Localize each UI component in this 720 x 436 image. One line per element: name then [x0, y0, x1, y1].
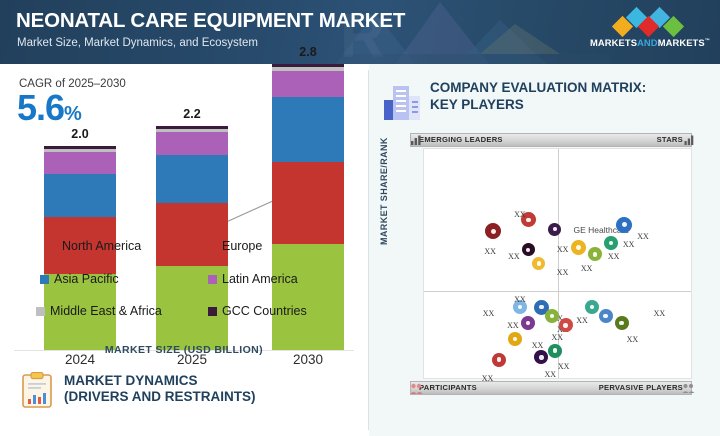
- quadrant-label-stars: STARS: [657, 135, 683, 144]
- quadrant-label-pervasive-players: PERVASIVE PLAYERS: [599, 383, 683, 392]
- bar-segment-latin-america: [156, 132, 228, 155]
- matrix-title: COMPANY EVALUATION MATRIX: KEY PLAYERS: [430, 80, 646, 114]
- matrix-point-label: XX: [608, 252, 620, 261]
- matrix-point-participants[interactable]: [548, 344, 562, 358]
- matrix-point-label: XX: [558, 362, 570, 371]
- legend-item-middle-east-africa: Middle East & Africa: [36, 304, 162, 318]
- matrix-point-label: XX: [623, 240, 635, 249]
- bar-segment-europe: [156, 203, 228, 266]
- matrix-point-stars[interactable]: [616, 217, 632, 233]
- legend-item-europe: Europe: [208, 239, 262, 253]
- bar-segment-asia-pacific: [44, 174, 116, 218]
- page-title: NEONATAL CARE EQUIPMENT MARKET: [16, 9, 405, 33]
- matrix-point-label: XX: [514, 295, 526, 304]
- matrix-point-label: XX: [484, 247, 496, 256]
- matrix-point-stars[interactable]: [588, 247, 602, 261]
- legend-swatch-middle-east-africa: [36, 307, 45, 316]
- matrix-point-participants[interactable]: [534, 350, 548, 364]
- legend-label: North America: [62, 239, 141, 253]
- bar-segment-asia-pacific: [272, 97, 344, 162]
- chart-bars-icon-left: [410, 134, 422, 146]
- matrix-point-label: XX: [557, 245, 569, 254]
- clipboard-icon: [22, 372, 52, 408]
- matrix-horizontal-divider: [424, 291, 691, 292]
- matrix-point-label: XX: [557, 268, 569, 277]
- markets-and-markets-logo: MARKETSANDMARKETS™: [590, 8, 708, 56]
- quadrant-label-participants: PARTICIPANTS: [419, 383, 477, 392]
- legend-label: GCC Countries: [222, 304, 307, 318]
- matrix-point-stars[interactable]: [604, 236, 618, 250]
- people-icon-left: [410, 382, 423, 395]
- chart-bars-icon-right: [684, 134, 695, 146]
- matrix-point-label: XX: [576, 316, 588, 325]
- chart-axis-title: MARKET SIZE (USD BILLION): [0, 344, 368, 356]
- legend-item-latin-america: Latin America: [208, 272, 298, 286]
- matrix-plot-area: GE Healthcare XXXXXXXXXXXXXXXXXXXXXXXXXX…: [423, 148, 692, 379]
- market-dynamics-line-2: (DRIVERS AND RESTRAINTS): [64, 389, 256, 405]
- legend-label: Asia Pacific: [54, 272, 119, 286]
- bar-segment-asia-pacific: [156, 155, 228, 203]
- matrix-point-pervasive[interactable]: [599, 309, 613, 323]
- legend-label: Middle East & Africa: [50, 304, 162, 318]
- bar-segment-latin-america: [44, 152, 116, 173]
- market-size-bar-chart: 2.02.22.8 202420252030: [0, 64, 368, 364]
- matrix-point-label: XX: [552, 333, 564, 342]
- logo-diamonds: [590, 8, 708, 34]
- matrix-point-pervasive[interactable]: [585, 300, 599, 314]
- legend-swatch-europe: [208, 242, 217, 251]
- matrix-title-line-1: COMPANY EVALUATION MATRIX:: [430, 80, 646, 97]
- matrix-point-label: XX: [544, 370, 556, 379]
- market-dynamics-line-1: MARKET DYNAMICS: [64, 373, 256, 389]
- legend-label: Latin America: [222, 272, 298, 286]
- market-dynamics-block: MARKET DYNAMICS (DRIVERS AND RESTRAINTS): [22, 370, 362, 426]
- matrix-bottom-band: PARTICIPANTS PERVASIVE PLAYERS: [410, 381, 692, 395]
- matrix-point-label: XX: [514, 210, 526, 219]
- matrix-point-label: XX: [482, 374, 494, 383]
- bar-value-2030: 2.8: [272, 45, 344, 59]
- market-dynamics-text: MARKET DYNAMICS (DRIVERS AND RESTRAINTS): [64, 373, 256, 406]
- matrix-point-label: XX: [654, 309, 666, 318]
- matrix-point-participants[interactable]: [508, 332, 522, 346]
- legend-label: Europe: [222, 239, 262, 253]
- logo-word-markets-2: MARKETS: [658, 37, 705, 48]
- matrix-point-participants[interactable]: [492, 353, 506, 367]
- logo-wordmark: MARKETSANDMARKETS™: [590, 37, 708, 48]
- matrix-point-participants[interactable]: [559, 318, 573, 332]
- matrix-point-emerging-leaders[interactable]: [522, 243, 535, 256]
- company-evaluation-matrix: EMERGING LEADERS STARS PARTICIPANTS PERV…: [398, 133, 708, 395]
- logo-trademark: ™: [705, 38, 710, 44]
- matrix-point-label: XX: [627, 335, 639, 344]
- page-header: R NEONATAL CARE EQUIPMENT MARKET Market …: [0, 0, 720, 64]
- matrix-y-axis-label: MARKET SHARE/RANK: [379, 137, 389, 245]
- logo-word-markets-1: MARKETS: [590, 37, 637, 48]
- matrix-point-pervasive[interactable]: [615, 316, 629, 330]
- legend-swatch-latin-america: [208, 275, 217, 284]
- matrix-point-emerging-leaders[interactable]: [548, 223, 561, 236]
- matrix-point-emerging-leaders[interactable]: [532, 257, 545, 270]
- building-icon: [381, 82, 423, 122]
- infographic-root: R NEONATAL CARE EQUIPMENT MARKET Market …: [0, 0, 720, 436]
- matrix-point-label: XX: [581, 264, 593, 273]
- bar-segment-north-america: [272, 244, 344, 350]
- bar-value-2024: 2.0: [44, 127, 116, 141]
- matrix-point-label: XX: [637, 232, 649, 241]
- legend-item-asia-pacific: Asia Pacific: [40, 272, 119, 286]
- legend-item-north-america: North America: [48, 239, 141, 253]
- matrix-point-label: XX: [532, 341, 544, 350]
- people-icon-right: [682, 382, 695, 394]
- quadrant-label-emerging-leaders: EMERGING LEADERS: [419, 135, 503, 144]
- bar-segment-latin-america: [272, 71, 344, 98]
- matrix-point-emerging-leaders[interactable]: [485, 223, 501, 239]
- matrix-point-participants[interactable]: [521, 316, 535, 330]
- matrix-title-line-2: KEY PLAYERS: [430, 97, 646, 114]
- legend-swatch-gcc-countries: [208, 307, 217, 316]
- panel-divider: [368, 70, 369, 430]
- bar-value-2025: 2.2: [156, 107, 228, 121]
- page-subtitle: Market Size, Market Dynamics, and Ecosys…: [17, 37, 258, 49]
- matrix-point-stars[interactable]: [571, 240, 586, 255]
- matrix-top-band: EMERGING LEADERS STARS: [410, 133, 692, 147]
- matrix-point-label: XX: [507, 321, 519, 330]
- legend-swatch-asia-pacific: [40, 275, 49, 284]
- logo-word-and: AND: [637, 37, 658, 48]
- legend-item-gcc-countries: GCC Countries: [208, 304, 307, 318]
- bar-segment-europe: [272, 162, 344, 244]
- matrix-point-label: XX: [483, 309, 495, 318]
- matrix-point-label: XX: [508, 252, 520, 261]
